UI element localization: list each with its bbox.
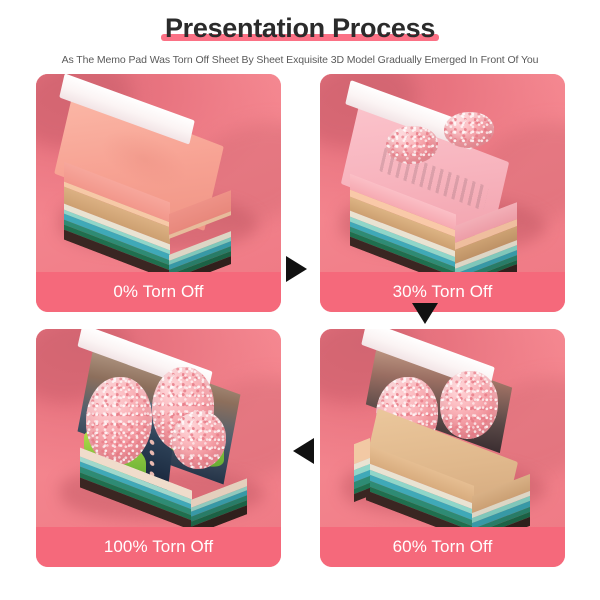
panel-30-caption: 30% Torn Off [320,272,565,312]
panel-60-percent[interactable]: 60% Torn Off [320,329,565,567]
panel-30-percent[interactable]: 30% Torn Off [320,74,565,312]
arrow-left-icon [293,438,314,464]
panel-100-percent[interactable]: 100% Torn Off [36,329,281,567]
page-subtitle: As The Memo Pad Was Torn Off Sheet By Sh… [0,53,600,67]
panel-0-caption-text: 0% Torn Off [113,282,203,302]
panel-60-caption: 60% Torn Off [320,527,565,567]
pad-left-edge-layers [354,438,370,502]
page-title-wrapper: Presentation Process [157,12,443,44]
panel-100-photo [36,329,281,527]
panel-60-caption-text: 60% Torn Off [393,537,493,557]
arrow-down-icon [412,303,438,324]
panel-30-photo [320,74,565,272]
panel-100-caption: 100% Torn Off [36,527,281,567]
presentation-process-page: Presentation Process As The Memo Pad Was… [0,0,600,600]
blossom-tree-right [444,112,494,148]
panel-0-caption: 0% Torn Off [36,272,281,312]
panel-0-photo [36,74,281,272]
panel-grid: 0% Torn Off [0,67,600,575]
page-title: Presentation Process [165,12,435,44]
page-header: Presentation Process As The Memo Pad Was… [0,0,600,67]
arrow-right-icon [286,256,307,282]
panel-30-caption-text: 30% Torn Off [393,282,493,302]
panel-100-caption-text: 100% Torn Off [104,537,213,557]
panel-0-percent[interactable]: 0% Torn Off [36,74,281,312]
panel-60-photo [320,329,565,527]
